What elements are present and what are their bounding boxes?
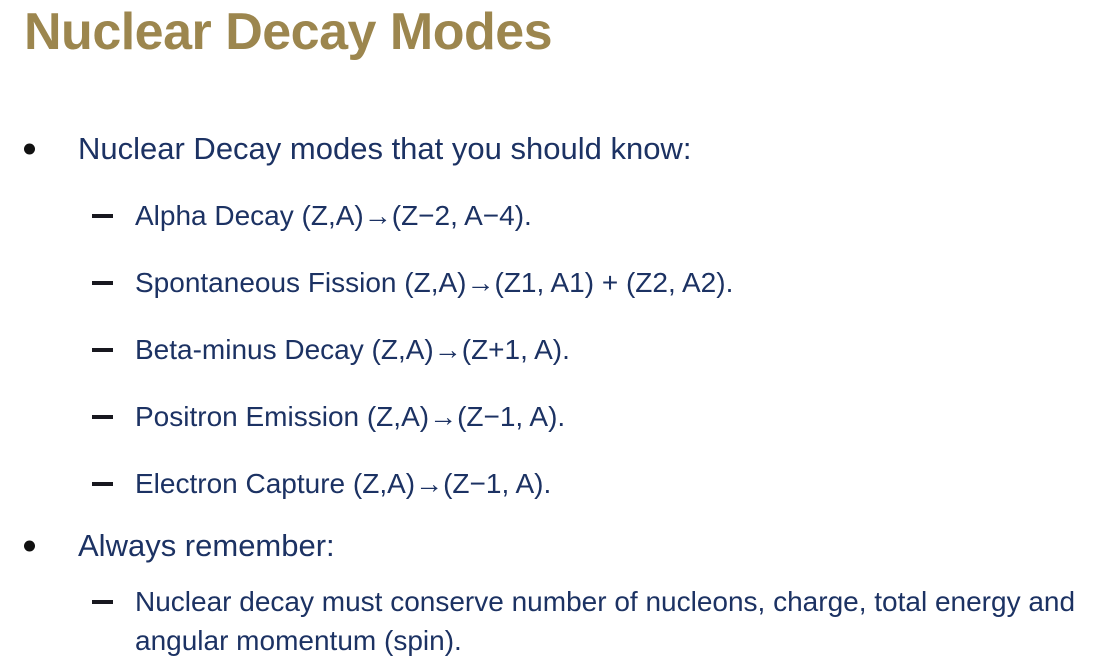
list-item-label: Electron Capture (Z,A)→(Z−1, A). [135,450,1118,517]
list-item: Alpha Decay (Z,A)→(Z−2, A−4). [0,182,1118,249]
bullet-dash-icon [92,415,113,419]
list-item: Electron Capture (Z,A)→(Z−1, A). [0,450,1118,517]
list-item-label: Nuclear decay must conserve number of nu… [135,579,1100,660]
list-item: Positron Emission (Z,A)→(Z−1, A). [0,383,1118,450]
bullet-dash-icon [92,348,113,352]
list-item: Spontaneous Fission (Z,A)→(Z1, A1) + (Z2… [0,249,1118,316]
list-item: Always remember: [0,517,1118,575]
list-item-label: Positron Emission (Z,A)→(Z−1, A). [135,383,1118,450]
bullet-dot-icon [24,541,35,552]
bullet-dash-icon [92,214,113,218]
list-item-label: Alpha Decay (Z,A)→(Z−2, A−4). [135,182,1118,249]
list-item-label: Spontaneous Fission (Z,A)→(Z1, A1) + (Z2… [135,249,1118,316]
bullet-dash-icon [92,281,113,285]
list-item-label: Always remember: [78,517,1118,575]
page-title: Nuclear Decay Modes [24,2,552,62]
list-item-label: Nuclear Decay modes that you should know… [78,120,1118,178]
list-item: Nuclear decay must conserve number of nu… [0,579,1118,660]
slide-canvas: Nuclear Decay Modes Nuclear Decay modes … [0,0,1118,663]
bullet-dash-icon [92,482,113,486]
bullet-dot-icon [24,144,35,155]
sublist-conservation: Nuclear decay must conserve number of nu… [0,579,1118,660]
list-item: Nuclear Decay modes that you should know… [0,120,1118,178]
list-item-label: Beta-minus Decay (Z,A)→(Z+1, A). [135,316,1118,383]
slide-body: Nuclear Decay modes that you should know… [0,120,1118,660]
list-item: Beta-minus Decay (Z,A)→(Z+1, A). [0,316,1118,383]
sublist-decay-modes: Alpha Decay (Z,A)→(Z−2, A−4). Spontaneou… [0,182,1118,517]
bullet-dash-icon [92,600,113,604]
